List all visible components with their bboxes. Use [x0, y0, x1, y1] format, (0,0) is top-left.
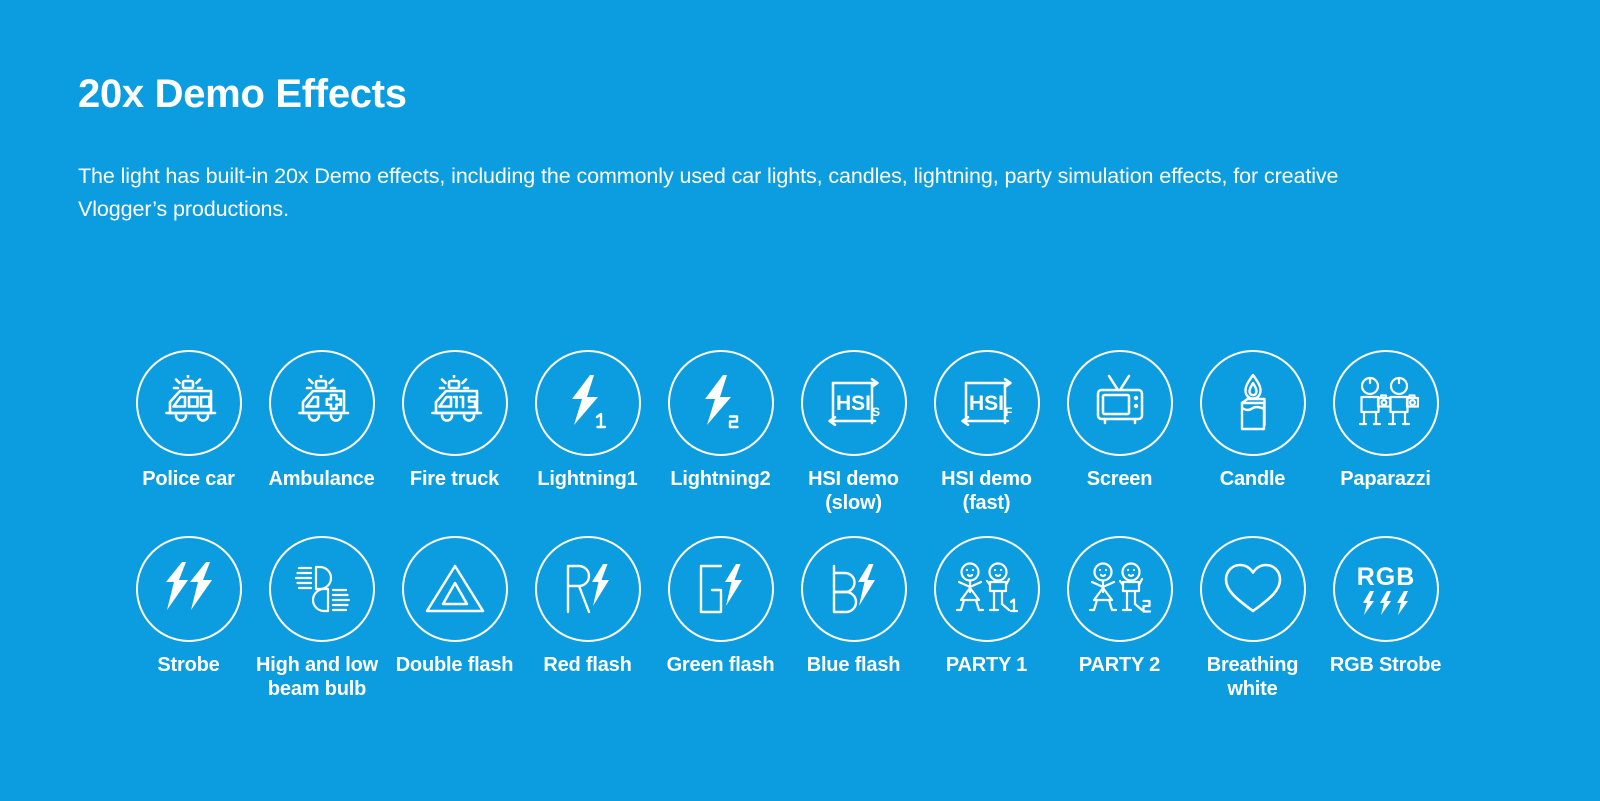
- effect-label: Paparazzi: [1340, 467, 1430, 491]
- effect-item-breathing-white[interactable]: Breathing white: [1186, 536, 1319, 702]
- effect-label: PARTY 1: [946, 653, 1027, 677]
- effect-label: Lightning2: [670, 467, 770, 491]
- effect-label: Screen: [1087, 467, 1153, 491]
- effect-circle: [402, 536, 508, 642]
- page-header: 20x Demo Effects The light has built-in …: [78, 72, 1478, 227]
- hsi-slow-marker: S: [872, 405, 880, 419]
- rgb-text: RGB: [1356, 563, 1415, 591]
- effect-label: PARTY 2: [1079, 653, 1160, 677]
- effect-item-screen[interactable]: Screen: [1053, 350, 1186, 491]
- effects-grid: Police car: [122, 350, 1482, 702]
- lightning-1-icon: [560, 373, 616, 433]
- effect-label: Lightning1: [537, 467, 637, 491]
- effect-item-hsi-demo-slow[interactable]: HSI S HSI demo (slow): [787, 350, 920, 516]
- effect-label: Red flash: [543, 653, 631, 677]
- effect-circle: [934, 536, 1040, 642]
- hsi-text: HSI: [969, 392, 1004, 415]
- effect-item-green-flash[interactable]: Green flash: [654, 536, 787, 677]
- hsi-text: HSI: [836, 392, 871, 415]
- page-title: 20x Demo Effects: [78, 72, 1478, 116]
- effect-item-lightning1[interactable]: Lightning1: [521, 350, 654, 491]
- effect-item-police-car[interactable]: Police car: [122, 350, 255, 491]
- heart-icon: [1221, 560, 1285, 618]
- effect-circle: [269, 350, 375, 456]
- effect-label: Candle: [1220, 467, 1285, 491]
- effect-item-candle[interactable]: Candle: [1186, 350, 1319, 491]
- double-flash-icon: [423, 561, 487, 617]
- effect-circle: [1200, 536, 1306, 642]
- lightning-2-icon: [693, 373, 749, 433]
- effect-item-red-flash[interactable]: Red flash: [521, 536, 654, 677]
- candle-icon: [1227, 372, 1279, 434]
- effect-label: Double flash: [396, 653, 514, 677]
- effect-label: Green flash: [667, 653, 775, 677]
- effect-circle: [1200, 350, 1306, 456]
- screen-icon: [1089, 373, 1151, 433]
- ambulance-icon: [290, 375, 354, 431]
- effect-item-lightning2[interactable]: Lightning2: [654, 350, 787, 491]
- effect-item-rgb-strobe[interactable]: RGB RGB Strobe: [1319, 536, 1452, 677]
- effect-label: Police car: [142, 467, 235, 491]
- effect-circle: RGB: [1333, 536, 1439, 642]
- hsi-demo-slow-icon: HSI S: [822, 374, 886, 432]
- effect-circle: [801, 536, 907, 642]
- hsi-fast-marker: F: [1005, 405, 1012, 419]
- effect-circle: [535, 350, 641, 456]
- effect-label: Fire truck: [410, 467, 499, 491]
- effect-label: Strobe: [157, 653, 219, 677]
- effect-circle: [402, 350, 508, 456]
- page-subtitle: The light has built-in 20x Demo effects,…: [78, 160, 1348, 227]
- effect-circle: HSI S: [801, 350, 907, 456]
- effect-item-party-1[interactable]: PARTY 1: [920, 536, 1053, 677]
- effect-circle: [668, 350, 774, 456]
- effect-circle: [136, 536, 242, 642]
- rgb-strobe-icon: RGB: [1353, 559, 1419, 619]
- effect-label: High and low beam bulb: [242, 653, 392, 702]
- party-2-icon: [1086, 560, 1154, 618]
- effect-circle: [535, 536, 641, 642]
- strobe-icon: [158, 560, 220, 618]
- effect-item-blue-flash[interactable]: Blue flash: [787, 536, 920, 677]
- green-flash-icon: [689, 560, 753, 618]
- fire-truck-icon: [423, 375, 487, 431]
- effect-label: Blue flash: [807, 653, 901, 677]
- effect-item-strobe[interactable]: Strobe: [122, 536, 255, 677]
- demo-effects-page: 20x Demo Effects The light has built-in …: [0, 0, 1600, 801]
- effect-item-high-low-beam-bulb[interactable]: High and low beam bulb: [255, 536, 388, 702]
- effect-item-ambulance[interactable]: Ambulance: [255, 350, 388, 491]
- effect-label: RGB Strobe: [1330, 653, 1441, 677]
- paparazzi-icon: [1353, 374, 1419, 432]
- police-car-icon: [157, 375, 221, 431]
- effect-circle: [1067, 536, 1173, 642]
- high-low-beam-bulb-icon: [290, 561, 354, 617]
- effect-circle: [1067, 350, 1173, 456]
- effect-circle: [136, 350, 242, 456]
- effect-label: HSI demo (fast): [941, 467, 1032, 516]
- effect-item-paparazzi[interactable]: Paparazzi: [1319, 350, 1452, 491]
- effect-label: Ambulance: [268, 467, 374, 491]
- effect-label: HSI demo (slow): [808, 467, 899, 516]
- effect-circle: [1333, 350, 1439, 456]
- effect-circle: [668, 536, 774, 642]
- effect-label: Breathing white: [1207, 653, 1299, 702]
- hsi-demo-fast-icon: HSI F: [955, 374, 1019, 432]
- effect-circle: HSI F: [934, 350, 1040, 456]
- effect-circle: [269, 536, 375, 642]
- effect-item-double-flash[interactable]: Double flash: [388, 536, 521, 677]
- effect-item-hsi-demo-fast[interactable]: HSI F HSI demo (fast): [920, 350, 1053, 516]
- effect-item-party-2[interactable]: PARTY 2: [1053, 536, 1186, 677]
- red-flash-icon: [556, 560, 620, 618]
- effect-item-fire-truck[interactable]: Fire truck: [388, 350, 521, 491]
- effects-row-2: Strobe: [122, 536, 1482, 702]
- party-1-icon: [953, 560, 1021, 618]
- effects-row-1: Police car: [122, 350, 1482, 516]
- blue-flash-icon: [822, 560, 886, 618]
